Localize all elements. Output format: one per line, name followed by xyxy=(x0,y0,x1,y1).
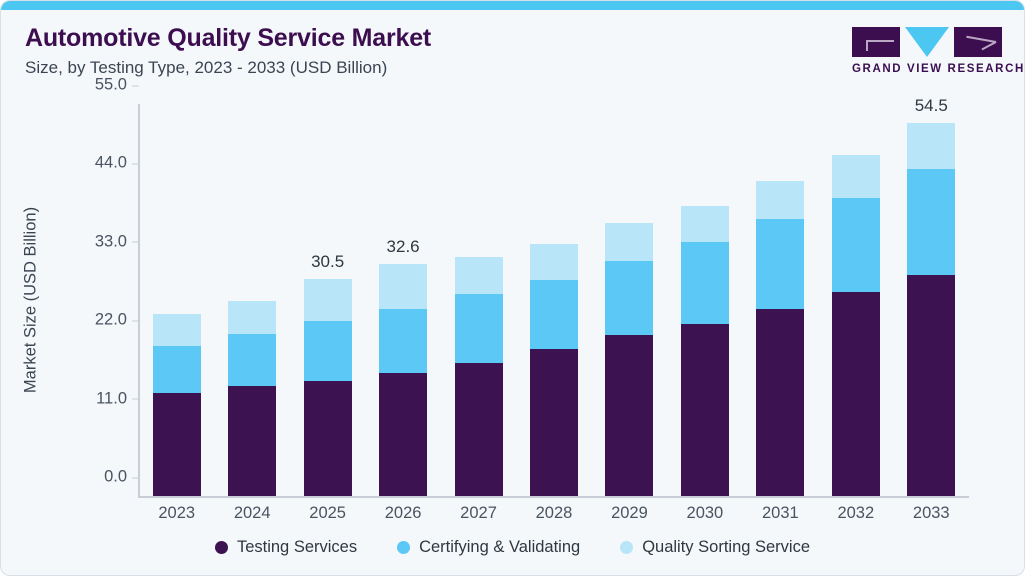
bar-segment-testing-services[interactable] xyxy=(681,324,729,496)
y-axis-tick-label: 11.0 xyxy=(96,389,127,407)
bar-segment-quality-sorting-service[interactable] xyxy=(379,264,427,310)
bar-segment-certifying-validating[interactable] xyxy=(304,321,352,380)
bar-group-2023[interactable]: 2023 xyxy=(153,104,201,496)
bar-segment-testing-services[interactable] xyxy=(455,363,503,496)
bar-group-2031[interactable]: 2031 xyxy=(756,104,804,496)
legend-color-dot xyxy=(620,541,633,554)
x-axis-tick-label: 2032 xyxy=(837,504,874,523)
bar-segment-quality-sorting-service[interactable] xyxy=(304,279,352,322)
bar-group-2026[interactable]: 32.62026 xyxy=(379,104,427,496)
y-axis-tick: 11.0 xyxy=(96,389,139,408)
legend-label: Certifying & Validating xyxy=(419,538,580,557)
plot-area: Market Size (USD Billion) 0.011.022.033.… xyxy=(139,104,969,496)
bar-segment-quality-sorting-service[interactable] xyxy=(228,301,276,334)
y-axis-tick: 55.0 xyxy=(95,76,139,95)
legend-label: Quality Sorting Service xyxy=(642,538,810,557)
bar-segment-certifying-validating[interactable] xyxy=(907,169,955,275)
bar-segment-quality-sorting-service[interactable] xyxy=(455,257,503,295)
x-axis-tick-label: 2030 xyxy=(687,504,724,523)
legend-color-dot xyxy=(215,541,228,554)
y-axis-tick-label: 55.0 xyxy=(95,76,127,94)
legend-item[interactable]: Quality Sorting Service xyxy=(620,538,810,557)
legend-color-dot xyxy=(397,541,410,554)
y-axis-tick: 22.0 xyxy=(95,311,139,330)
y-axis-tick-mark xyxy=(132,85,139,86)
bar-segment-testing-services[interactable] xyxy=(605,335,653,496)
bar-value-label: 32.6 xyxy=(387,237,420,257)
bar-series-container: 2023202430.5202532.620262027202820292030… xyxy=(139,104,969,496)
top-accent-stripe xyxy=(1,1,1025,10)
bar-segment-certifying-validating[interactable] xyxy=(153,346,201,392)
logo-wordmark: GRAND VIEW RESEARCH xyxy=(852,63,1002,75)
x-axis-tick-label: 2031 xyxy=(762,504,799,523)
bar-group-2029[interactable]: 2029 xyxy=(605,104,653,496)
bar-segment-quality-sorting-service[interactable] xyxy=(605,223,653,261)
y-axis-tick: 33.0 xyxy=(95,232,139,251)
y-axis-tick-label: 44.0 xyxy=(95,154,127,172)
chart-subtitle: Size, by Testing Type, 2023 - 2033 (USD … xyxy=(25,56,845,80)
bar-segment-quality-sorting-service[interactable] xyxy=(907,123,955,169)
y-axis-tick-mark xyxy=(132,477,139,478)
logo-left-block-icon xyxy=(852,27,900,57)
logo-right-block-icon xyxy=(954,27,1002,57)
bar-segment-certifying-validating[interactable] xyxy=(455,294,503,363)
bar-segment-testing-services[interactable] xyxy=(153,393,201,496)
bar-group-2032[interactable]: 2032 xyxy=(832,104,880,496)
legend-item[interactable]: Testing Services xyxy=(215,538,357,557)
bar-segment-testing-services[interactable] xyxy=(530,349,578,496)
x-axis-tick-label: 2029 xyxy=(611,504,648,523)
y-axis-tick-label: 33.0 xyxy=(95,232,127,250)
bar-segment-certifying-validating[interactable] xyxy=(379,309,427,373)
y-axis-tick-mark xyxy=(132,320,139,321)
x-axis-tick-label: 2028 xyxy=(536,504,573,523)
bar-segment-quality-sorting-service[interactable] xyxy=(832,155,880,198)
bar-segment-quality-sorting-service[interactable] xyxy=(756,181,804,219)
bar-segment-certifying-validating[interactable] xyxy=(530,280,578,349)
x-axis-tick-label: 2033 xyxy=(913,504,950,523)
chart-legend: Testing ServicesCertifying & ValidatingQ… xyxy=(1,538,1024,557)
bar-segment-testing-services[interactable] xyxy=(756,309,804,496)
y-axis-tick: 44.0 xyxy=(95,154,139,173)
y-axis-tick: 0.0 xyxy=(104,468,139,487)
page-title: Automotive Quality Service Market xyxy=(25,23,845,53)
logo-triangle-icon xyxy=(905,27,949,57)
chart-header: Automotive Quality Service Market Size, … xyxy=(25,23,845,80)
bar-segment-certifying-validating[interactable] xyxy=(756,219,804,309)
bar-segment-quality-sorting-service[interactable] xyxy=(681,206,729,242)
bar-segment-testing-services[interactable] xyxy=(304,381,352,496)
bar-value-label: 54.5 xyxy=(915,96,948,116)
legend-item[interactable]: Certifying & Validating xyxy=(397,538,580,557)
y-axis-tick-mark xyxy=(132,163,139,164)
y-axis-title: Market Size (USD Billion) xyxy=(22,207,41,393)
y-axis-tick-mark xyxy=(132,242,139,243)
bar-segment-quality-sorting-service[interactable] xyxy=(153,314,201,346)
bar-segment-certifying-validating[interactable] xyxy=(681,242,729,324)
bar-segment-certifying-validating[interactable] xyxy=(228,334,276,386)
x-axis-tick-label: 2026 xyxy=(385,504,422,523)
bar-group-2033[interactable]: 54.52033 xyxy=(907,104,955,496)
bar-segment-testing-services[interactable] xyxy=(907,275,955,496)
bar-segment-quality-sorting-service[interactable] xyxy=(530,244,578,280)
bar-segment-testing-services[interactable] xyxy=(379,373,427,496)
legend-label: Testing Services xyxy=(237,538,357,557)
bar-segment-certifying-validating[interactable] xyxy=(832,198,880,292)
x-axis-line xyxy=(138,496,969,498)
x-axis-tick-label: 2025 xyxy=(309,504,346,523)
chart-card: Automotive Quality Service Market Size, … xyxy=(0,0,1025,576)
logo-marks xyxy=(852,27,1002,57)
y-axis-tick-label: 22.0 xyxy=(95,311,127,329)
bar-segment-certifying-validating[interactable] xyxy=(605,261,653,335)
bar-group-2025[interactable]: 30.52025 xyxy=(304,104,352,496)
bar-segment-testing-services[interactable] xyxy=(228,386,276,496)
bar-group-2024[interactable]: 2024 xyxy=(228,104,276,496)
bar-group-2027[interactable]: 2027 xyxy=(455,104,503,496)
bar-group-2030[interactable]: 2030 xyxy=(681,104,729,496)
bar-segment-testing-services[interactable] xyxy=(832,292,880,496)
x-axis-tick-label: 2024 xyxy=(234,504,271,523)
bar-group-2028[interactable]: 2028 xyxy=(530,104,578,496)
y-axis-tick-mark xyxy=(132,399,139,400)
x-axis-tick-label: 2027 xyxy=(460,504,497,523)
brand-logo: GRAND VIEW RESEARCH xyxy=(852,27,1002,75)
y-axis-tick-label: 0.0 xyxy=(104,468,127,486)
x-axis-tick-label: 2023 xyxy=(158,504,195,523)
bar-value-label: 30.5 xyxy=(311,252,344,272)
